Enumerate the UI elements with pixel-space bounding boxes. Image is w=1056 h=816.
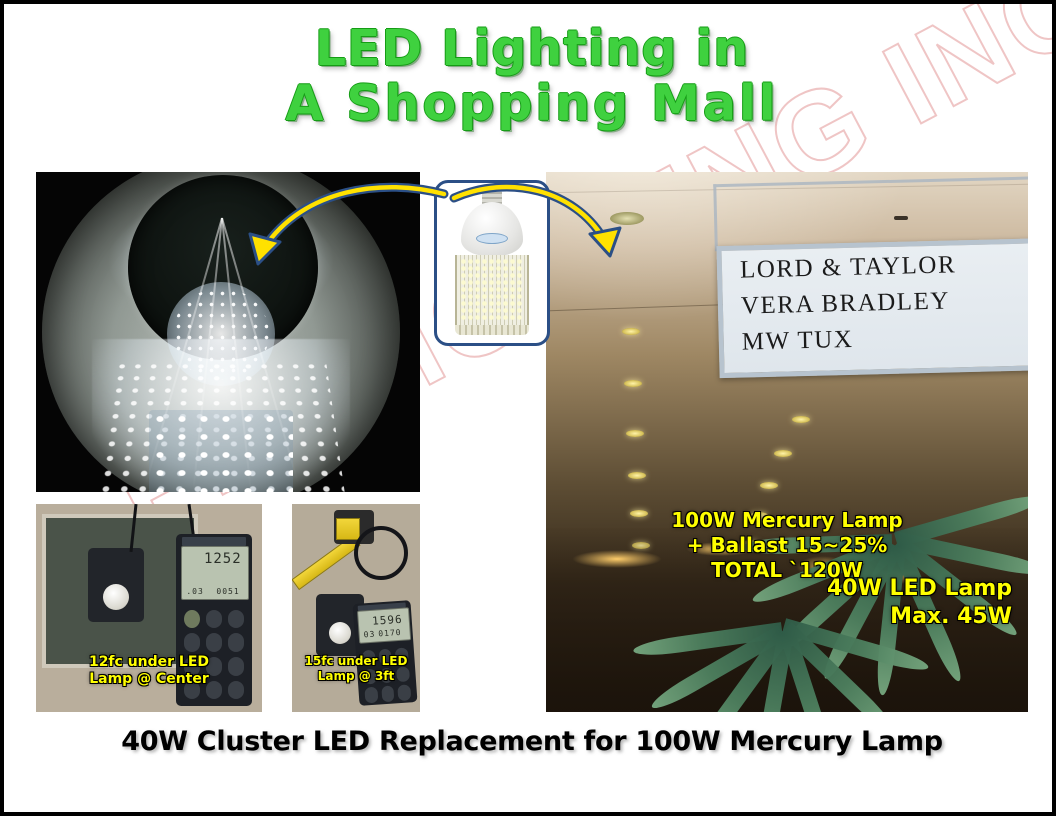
mercury-lamp-caption: 100W Mercury Lamp + Ballast 15~25% TOTAL… xyxy=(564,508,1010,582)
meter-key[interactable] xyxy=(184,633,200,652)
page-title: LED Lighting in A Shopping Mall xyxy=(4,22,1056,132)
meter-key[interactable] xyxy=(206,610,222,629)
sprinkler-head xyxy=(894,216,908,220)
title-line-2: A Shopping Mall xyxy=(4,77,1056,132)
ceiling-downlight xyxy=(774,450,792,457)
meter-1-caption: 12fc under LED Lamp @ Center xyxy=(36,654,262,689)
ceiling-downlight xyxy=(628,472,646,479)
led-lamp-caption: 40W LED Lamp Max. 45W xyxy=(827,575,1012,630)
meter-key[interactable] xyxy=(184,610,200,629)
lcd-main-reading: 1596 xyxy=(372,613,403,628)
lcd-left-reading: 03 xyxy=(363,629,375,639)
ceiling-downlight xyxy=(626,430,644,437)
meter-key[interactable] xyxy=(398,685,412,702)
meter-2-caption-line-1: 15fc under LED xyxy=(292,654,420,669)
title-line-1: LED Lighting in xyxy=(4,22,1056,77)
meter-key[interactable] xyxy=(228,610,244,629)
sign-line-2: VERA BRADLEY xyxy=(741,283,1028,323)
meter-key[interactable] xyxy=(228,633,244,652)
meter-key[interactable] xyxy=(206,633,222,652)
ceiling-downlight xyxy=(624,380,642,387)
lcd-right-reading: 0051 xyxy=(216,587,239,596)
meter-2-caption-line-2: Lamp @ 3ft xyxy=(292,669,420,684)
light-sensor-head xyxy=(88,548,144,622)
mall-directory-sign: LORD & TAYLOR VERA BRADLEY MW TUX xyxy=(716,238,1028,378)
pointer-arrows xyxy=(154,172,674,372)
meter-lcd-display: 1252 .03 0051 xyxy=(181,546,248,600)
ceiling-downlight xyxy=(792,416,810,423)
meter-2-caption: 15fc under LED Lamp @ 3ft xyxy=(292,654,420,684)
lcd-left-reading: .03 xyxy=(186,587,203,596)
sign-line-1: LORD & TAYLOR xyxy=(740,247,1028,287)
led-cylinder-body xyxy=(149,410,292,492)
light-meter-device: 1596 03 0170 xyxy=(353,600,418,706)
lcd-main-reading: 1252 xyxy=(204,551,242,567)
mercury-caption-line-1: 100W Mercury Lamp xyxy=(564,508,1010,533)
mercury-caption-line-3: TOTAL `120W xyxy=(564,558,1010,583)
lcd-right-reading: 0170 xyxy=(378,628,402,639)
footer-caption: 40W Cluster LED Replacement for 100W Mer… xyxy=(4,726,1056,757)
sensor-dome xyxy=(103,584,129,610)
meter-key[interactable] xyxy=(364,687,378,704)
sign-line-3: MW TUX xyxy=(741,319,1028,359)
sensor-dome xyxy=(329,622,351,644)
slide-canvas: PIA LIGHTING INC LED Lighting in A Shopp… xyxy=(0,0,1056,816)
meter-key[interactable] xyxy=(381,686,395,703)
led-caption-line-2: Max. 45W xyxy=(827,603,1012,630)
mercury-caption-line-2: + Ballast 15~25% xyxy=(564,533,1010,558)
meter-1-caption-line-2: Lamp @ Center xyxy=(36,671,262,688)
sensor-cable xyxy=(354,526,408,580)
meter-1-caption-line-1: 12fc under LED xyxy=(36,654,262,671)
arrow-to-led-lamp xyxy=(250,187,444,264)
meter-brand-strip xyxy=(182,537,246,546)
tape-measure-face xyxy=(336,518,360,540)
arrow-to-ceiling-fixture xyxy=(454,187,620,256)
ceiling-downlight xyxy=(760,482,778,489)
meter-lcd-display: 1596 03 0170 xyxy=(357,607,411,643)
